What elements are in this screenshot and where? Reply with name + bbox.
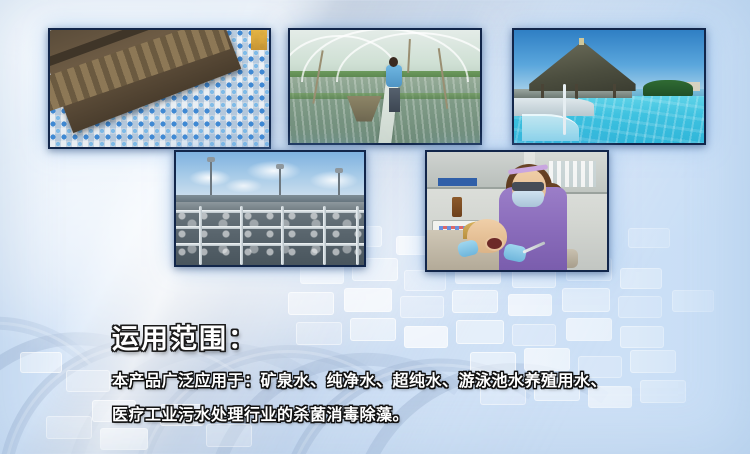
photo-bottling-line [48, 28, 271, 149]
body-line-1: 本产品广泛应用于：矿泉水、纯净水、超纯水、游泳池水养殖用水、 [112, 371, 712, 391]
text-block: 运用范围： 本产品广泛应用于：矿泉水、纯净水、超纯水、游泳池水养殖用水、 医疗工… [112, 324, 712, 425]
body-line-2: 医疗工业污水处理行业的杀菌消毒除藻。 [112, 405, 712, 425]
photo-aquaculture [288, 28, 482, 145]
section-heading: 运用范围： [112, 324, 712, 356]
photo-swimming-pool [512, 28, 706, 145]
photo-wastewater-plant [174, 150, 366, 267]
application-banner: 运用范围： 本产品广泛应用于：矿泉水、纯净水、超纯水、游泳池水养殖用水、 医疗工… [0, 0, 750, 454]
photo-dental-clinic [425, 150, 609, 272]
